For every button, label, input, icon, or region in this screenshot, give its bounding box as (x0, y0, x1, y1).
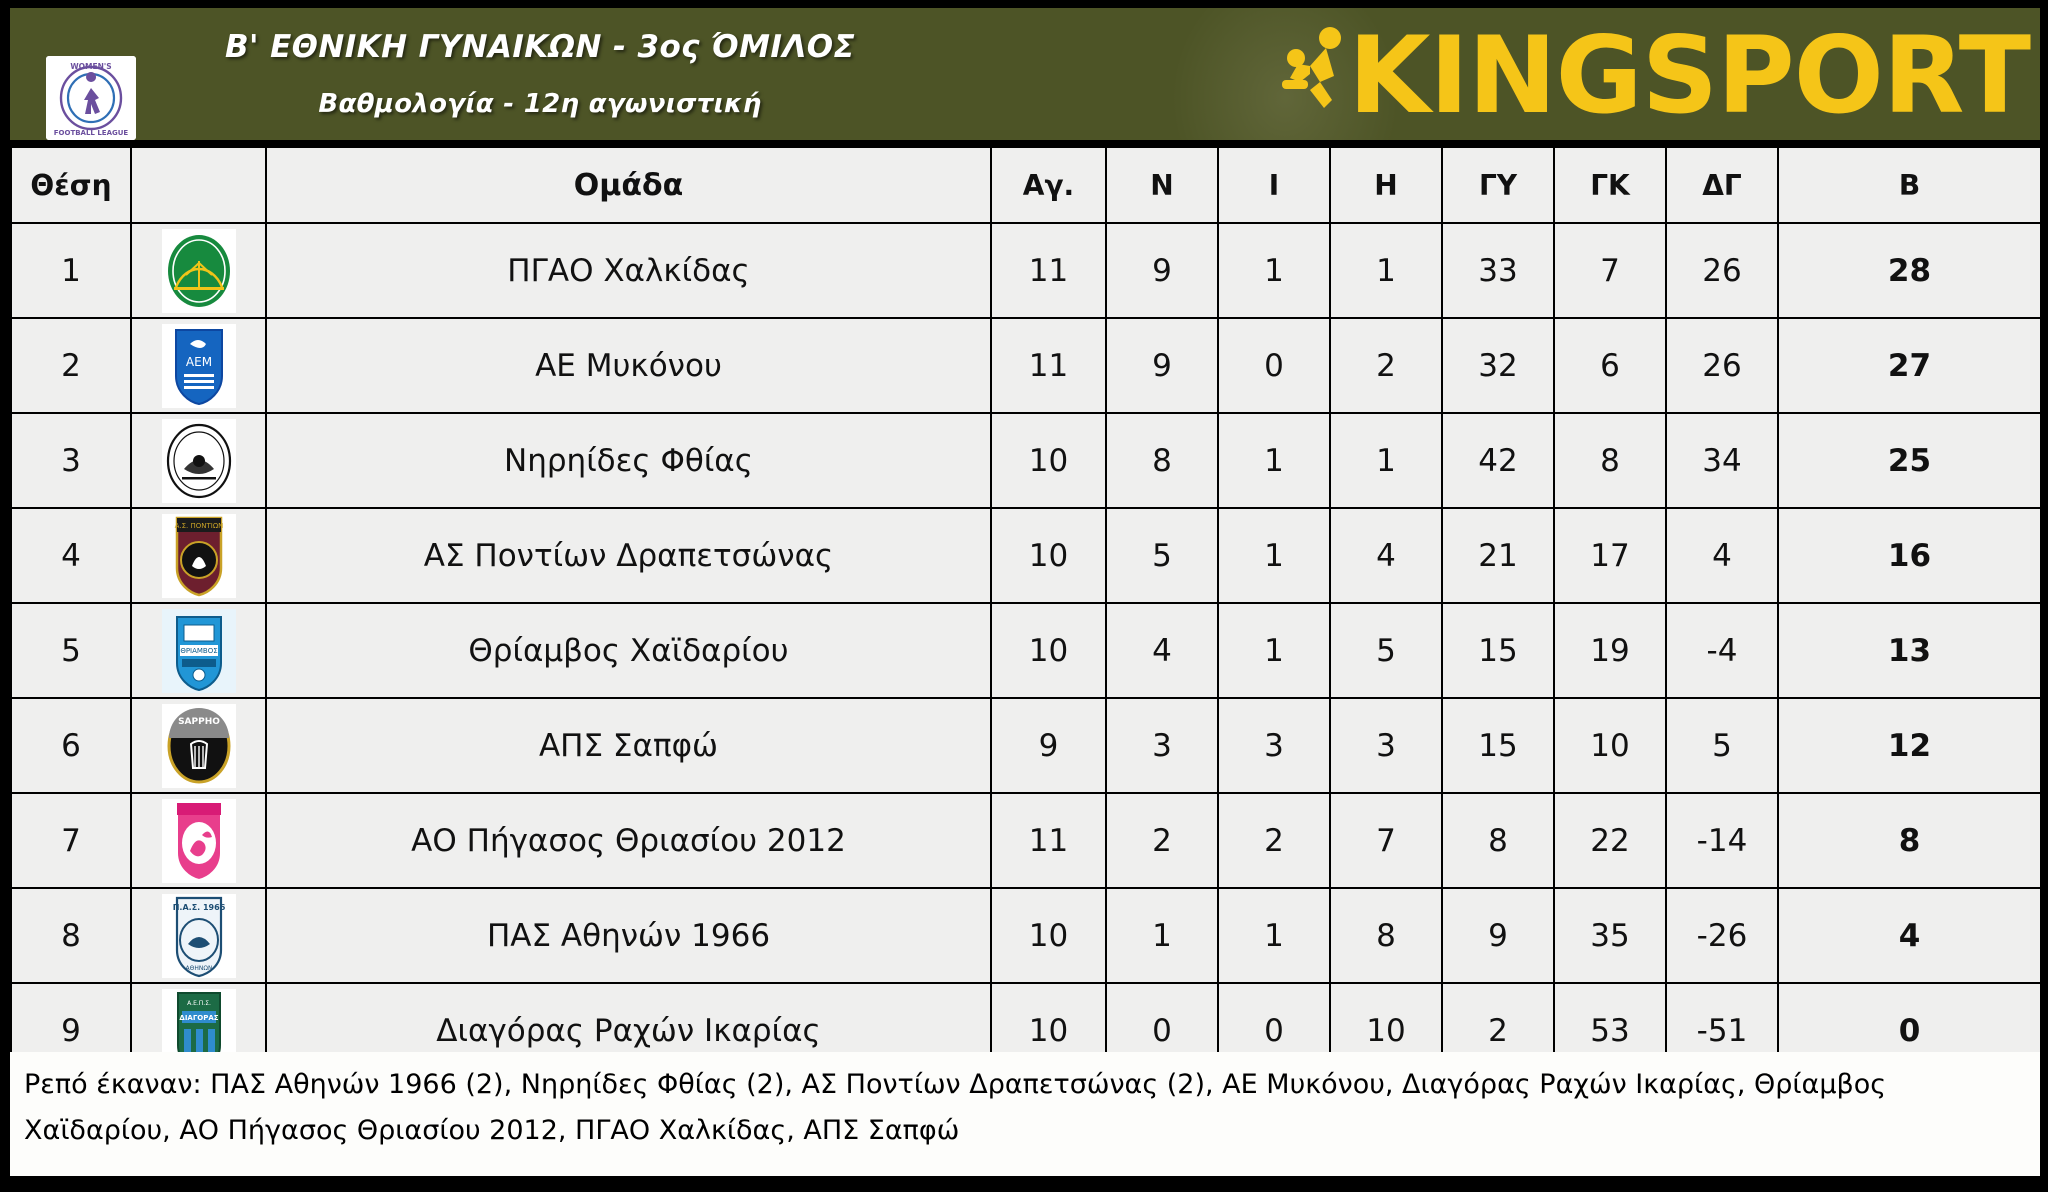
cell-crest: Π.Α.Σ. 1966ΑΘΗΝΩΝ (131, 888, 266, 983)
cell-crest (131, 413, 266, 508)
standings-table: Θέση Ομάδα Αγ. Ν Ι Η ΓΥ ΓΚ ΔΓ Β 1ΠΓΑΟ Χα… (10, 146, 2042, 1079)
cell-won: 2 (1106, 793, 1218, 888)
cell-won: 8 (1106, 413, 1218, 508)
th-goals-for: ΓΥ (1442, 147, 1554, 223)
cell-goals-for: 15 (1442, 698, 1554, 793)
table-row: 8Π.Α.Σ. 1966ΑΘΗΝΩΝΠΑΣ Αθηνών 19661011893… (11, 888, 2041, 983)
cell-goal-diff: -4 (1666, 603, 1778, 698)
table-row: 4Α.Σ. ΠΟΝΤΙΩΝΑΣ Ποντίων Δραπετσώνας10514… (11, 508, 2041, 603)
cell-won: 9 (1106, 223, 1218, 318)
ao-pigasos-thriasiou-crest (162, 799, 236, 883)
svg-text:ΘΡΙΑΜΒΟΣ: ΘΡΙΑΜΒΟΣ (180, 647, 217, 655)
table-row: 7ΑΟ Πήγασος Θριασίου 201211227822-148 (11, 793, 2041, 888)
table-row: 2ΑΕΜΑΕ Μυκόνου119023262627 (11, 318, 2041, 413)
banner-titles: Β' ΕΘΝΙΚΗ ΓΥΝΑΙΚΩΝ - 3ος ΌΜΙΛΟΣ Βαθμολογ… (10, 8, 1070, 140)
cell-position: 8 (11, 888, 131, 983)
cell-team-name: Νηρηίδες Φθίας (266, 413, 991, 508)
cell-crest: ΘΡΙΑΜΒΟΣ (131, 603, 266, 698)
th-played: Αγ. (991, 147, 1106, 223)
cell-played: 10 (991, 508, 1106, 603)
crest-wrap (132, 416, 265, 505)
cell-goals-for: 42 (1442, 413, 1554, 508)
cell-crest: ΑΕΜ (131, 318, 266, 413)
cell-position: 6 (11, 698, 131, 793)
cell-team-name: ΠΑΣ Αθηνών 1966 (266, 888, 991, 983)
th-points: Β (1778, 147, 2041, 223)
th-won: Ν (1106, 147, 1218, 223)
cell-won: 1 (1106, 888, 1218, 983)
cell-drawn: 3 (1218, 698, 1330, 793)
cell-lost: 8 (1330, 888, 1442, 983)
table-header: Θέση Ομάδα Αγ. Ν Ι Η ΓΥ ΓΚ ΔΓ Β (11, 147, 2041, 223)
th-goal-diff: ΔΓ (1666, 147, 1778, 223)
cell-goal-diff: 4 (1666, 508, 1778, 603)
cell-position: 3 (11, 413, 131, 508)
svg-text:ΑΕΜ: ΑΕΜ (185, 355, 211, 369)
table-row: 6SAPPHOΑΠΣ Σαπφώ93331510512 (11, 698, 2041, 793)
th-goals-against: ΓΚ (1554, 147, 1666, 223)
table-row: 5ΘΡΙΑΜΒΟΣΘρίαμβος Χαϊδαρίου104151519-413 (11, 603, 2041, 698)
th-lost: Η (1330, 147, 1442, 223)
cell-played: 11 (991, 318, 1106, 413)
cell-drawn: 0 (1218, 318, 1330, 413)
cell-won: 5 (1106, 508, 1218, 603)
cell-points: 16 (1778, 508, 2041, 603)
bye-weeks-line-2: Χαϊδαρίου, ΑΟ Πήγασος Θριασίου 2012, ΠΓΑ… (24, 1108, 2026, 1154)
crest-wrap: ΘΡΙΑΜΒΟΣ (132, 606, 265, 695)
cell-goals-for: 33 (1442, 223, 1554, 318)
cell-drawn: 1 (1218, 888, 1330, 983)
table-row: 3Νηρηίδες Φθίας108114283425 (11, 413, 2041, 508)
cell-won: 9 (1106, 318, 1218, 413)
crest-wrap: Α.Σ. ΠΟΝΤΙΩΝ (132, 511, 265, 600)
cell-team-name: Θρίαμβος Χαϊδαρίου (266, 603, 991, 698)
cell-crest (131, 223, 266, 318)
kingsport-wordmark: KINGSPORT (1348, 24, 2030, 128)
crest-wrap (132, 226, 265, 315)
cell-goal-diff: -14 (1666, 793, 1778, 888)
league-title: Β' ΕΘΝΙΚΗ ΓΥΝΑΙΚΩΝ - 3ος ΌΜΙΛΟΣ (225, 29, 855, 65)
svg-text:Π.Α.Σ. 1966: Π.Α.Σ. 1966 (172, 903, 225, 912)
cell-team-name: ΑΕ Μυκόνου (266, 318, 991, 413)
cell-team-name: ΑΣ Ποντίων Δραπετσώνας (266, 508, 991, 603)
cell-goals-for: 21 (1442, 508, 1554, 603)
cell-goal-diff: 26 (1666, 223, 1778, 318)
kingsport-brand: KINGSPORT (1276, 14, 2030, 138)
cell-goal-diff: 26 (1666, 318, 1778, 413)
cell-team-name: ΠΓΑΟ Χαλκίδας (266, 223, 991, 318)
cell-goals-against: 22 (1554, 793, 1666, 888)
cell-goals-against: 7 (1554, 223, 1666, 318)
cell-drawn: 2 (1218, 793, 1330, 888)
cell-points: 27 (1778, 318, 2041, 413)
crest-wrap: SAPPHO (132, 701, 265, 790)
pgao-chalkidas-crest (162, 229, 236, 313)
cell-goals-against: 19 (1554, 603, 1666, 698)
cell-goals-against: 8 (1554, 413, 1666, 508)
cell-position: 2 (11, 318, 131, 413)
cell-position: 1 (11, 223, 131, 318)
svg-text:ΔΙΑΓΟΡΑΣ: ΔΙΑΓΟΡΑΣ (179, 1014, 218, 1022)
matchday-subtitle: Βαθμολογία - 12η αγωνιστική (318, 89, 761, 119)
ae-mykonou-crest: ΑΕΜ (162, 324, 236, 408)
aps-sappho-crest: SAPPHO (162, 704, 236, 788)
cell-points: 13 (1778, 603, 2041, 698)
cell-lost: 5 (1330, 603, 1442, 698)
cell-played: 10 (991, 888, 1106, 983)
svg-text:SAPPHO: SAPPHO (178, 717, 220, 727)
cell-points: 12 (1778, 698, 2041, 793)
cell-lost: 7 (1330, 793, 1442, 888)
cell-played: 11 (991, 223, 1106, 318)
cell-lost: 4 (1330, 508, 1442, 603)
kingsport-athlete-icon (1276, 24, 1362, 128)
cell-points: 25 (1778, 413, 2041, 508)
cell-goals-for: 32 (1442, 318, 1554, 413)
cell-won: 4 (1106, 603, 1218, 698)
th-drawn: Ι (1218, 147, 1330, 223)
cell-lost: 1 (1330, 413, 1442, 508)
cell-drawn: 1 (1218, 603, 1330, 698)
cell-goal-diff: -26 (1666, 888, 1778, 983)
pas-athinon-1966-crest: Π.Α.Σ. 1966ΑΘΗΝΩΝ (162, 894, 236, 978)
cell-position: 5 (11, 603, 131, 698)
cell-played: 10 (991, 603, 1106, 698)
th-position: Θέση (11, 147, 131, 223)
cell-goals-for: 8 (1442, 793, 1554, 888)
thriamvos-chaidariou-crest: ΘΡΙΑΜΒΟΣ (162, 609, 236, 693)
svg-text:Α.Σ. ΠΟΝΤΙΩΝ: Α.Σ. ΠΟΝΤΙΩΝ (174, 522, 223, 530)
cell-drawn: 1 (1218, 413, 1330, 508)
cell-goals-against: 6 (1554, 318, 1666, 413)
nireides-fthias-crest (162, 419, 236, 503)
cell-goals-against: 17 (1554, 508, 1666, 603)
crest-wrap: Π.Α.Σ. 1966ΑΘΗΝΩΝ (132, 891, 265, 980)
cell-goals-for: 15 (1442, 603, 1554, 698)
cell-played: 9 (991, 698, 1106, 793)
cell-won: 3 (1106, 698, 1218, 793)
table-row: 1ΠΓΑΟ Χαλκίδας119113372628 (11, 223, 2041, 318)
cell-points: 28 (1778, 223, 2041, 318)
header-row: Θέση Ομάδα Αγ. Ν Ι Η ΓΥ ΓΚ ΔΓ Β (11, 147, 2041, 223)
crest-wrap (132, 796, 265, 885)
crest-wrap: ΑΕΜ (132, 321, 265, 410)
cell-lost: 2 (1330, 318, 1442, 413)
cell-goal-diff: 34 (1666, 413, 1778, 508)
cell-played: 11 (991, 793, 1106, 888)
bye-weeks-line-1: Ρεπό έκαναν: ΠΑΣ Αθηνών 1966 (2), Νηρηίδ… (24, 1062, 2026, 1108)
table-body: 1ΠΓΑΟ Χαλκίδας1191133726282ΑΕΜΑΕ Μυκόνου… (11, 223, 2041, 1078)
cell-lost: 3 (1330, 698, 1442, 793)
cell-played: 10 (991, 413, 1106, 508)
cell-goals-against: 35 (1554, 888, 1666, 983)
header-banner: WOMEN'S FOOTBALL LEAGUE Β' ΕΘΝΙΚΗ ΓΥΝΑΙΚ… (10, 8, 2040, 140)
cell-drawn: 1 (1218, 223, 1330, 318)
th-team: Ομάδα (266, 147, 991, 223)
cell-team-name: ΑΟ Πήγασος Θριασίου 2012 (266, 793, 991, 888)
cell-drawn: 1 (1218, 508, 1330, 603)
svg-text:Α.Ε.Π.Σ.: Α.Ε.Π.Σ. (187, 1000, 211, 1007)
cell-position: 7 (11, 793, 131, 888)
as-pontion-drapetsonas-crest: Α.Σ. ΠΟΝΤΙΩΝ (162, 514, 236, 598)
th-crest (131, 147, 266, 223)
cell-crest: Α.Σ. ΠΟΝΤΙΩΝ (131, 508, 266, 603)
cell-goals-against: 10 (1554, 698, 1666, 793)
cell-lost: 1 (1330, 223, 1442, 318)
bye-weeks-note: Ρεπό έκαναν: ΠΑΣ Αθηνών 1966 (2), Νηρηίδ… (10, 1052, 2040, 1176)
cell-points: 8 (1778, 793, 2041, 888)
cell-crest: SAPPHO (131, 698, 266, 793)
cell-goal-diff: 5 (1666, 698, 1778, 793)
cell-position: 4 (11, 508, 131, 603)
cell-goals-for: 9 (1442, 888, 1554, 983)
cell-team-name: ΑΠΣ Σαπφώ (266, 698, 991, 793)
standings-infographic: WOMEN'S FOOTBALL LEAGUE Β' ΕΘΝΙΚΗ ΓΥΝΑΙΚ… (0, 0, 2048, 1192)
cell-crest (131, 793, 266, 888)
svg-text:ΑΘΗΝΩΝ: ΑΘΗΝΩΝ (185, 965, 212, 972)
cell-points: 4 (1778, 888, 2041, 983)
